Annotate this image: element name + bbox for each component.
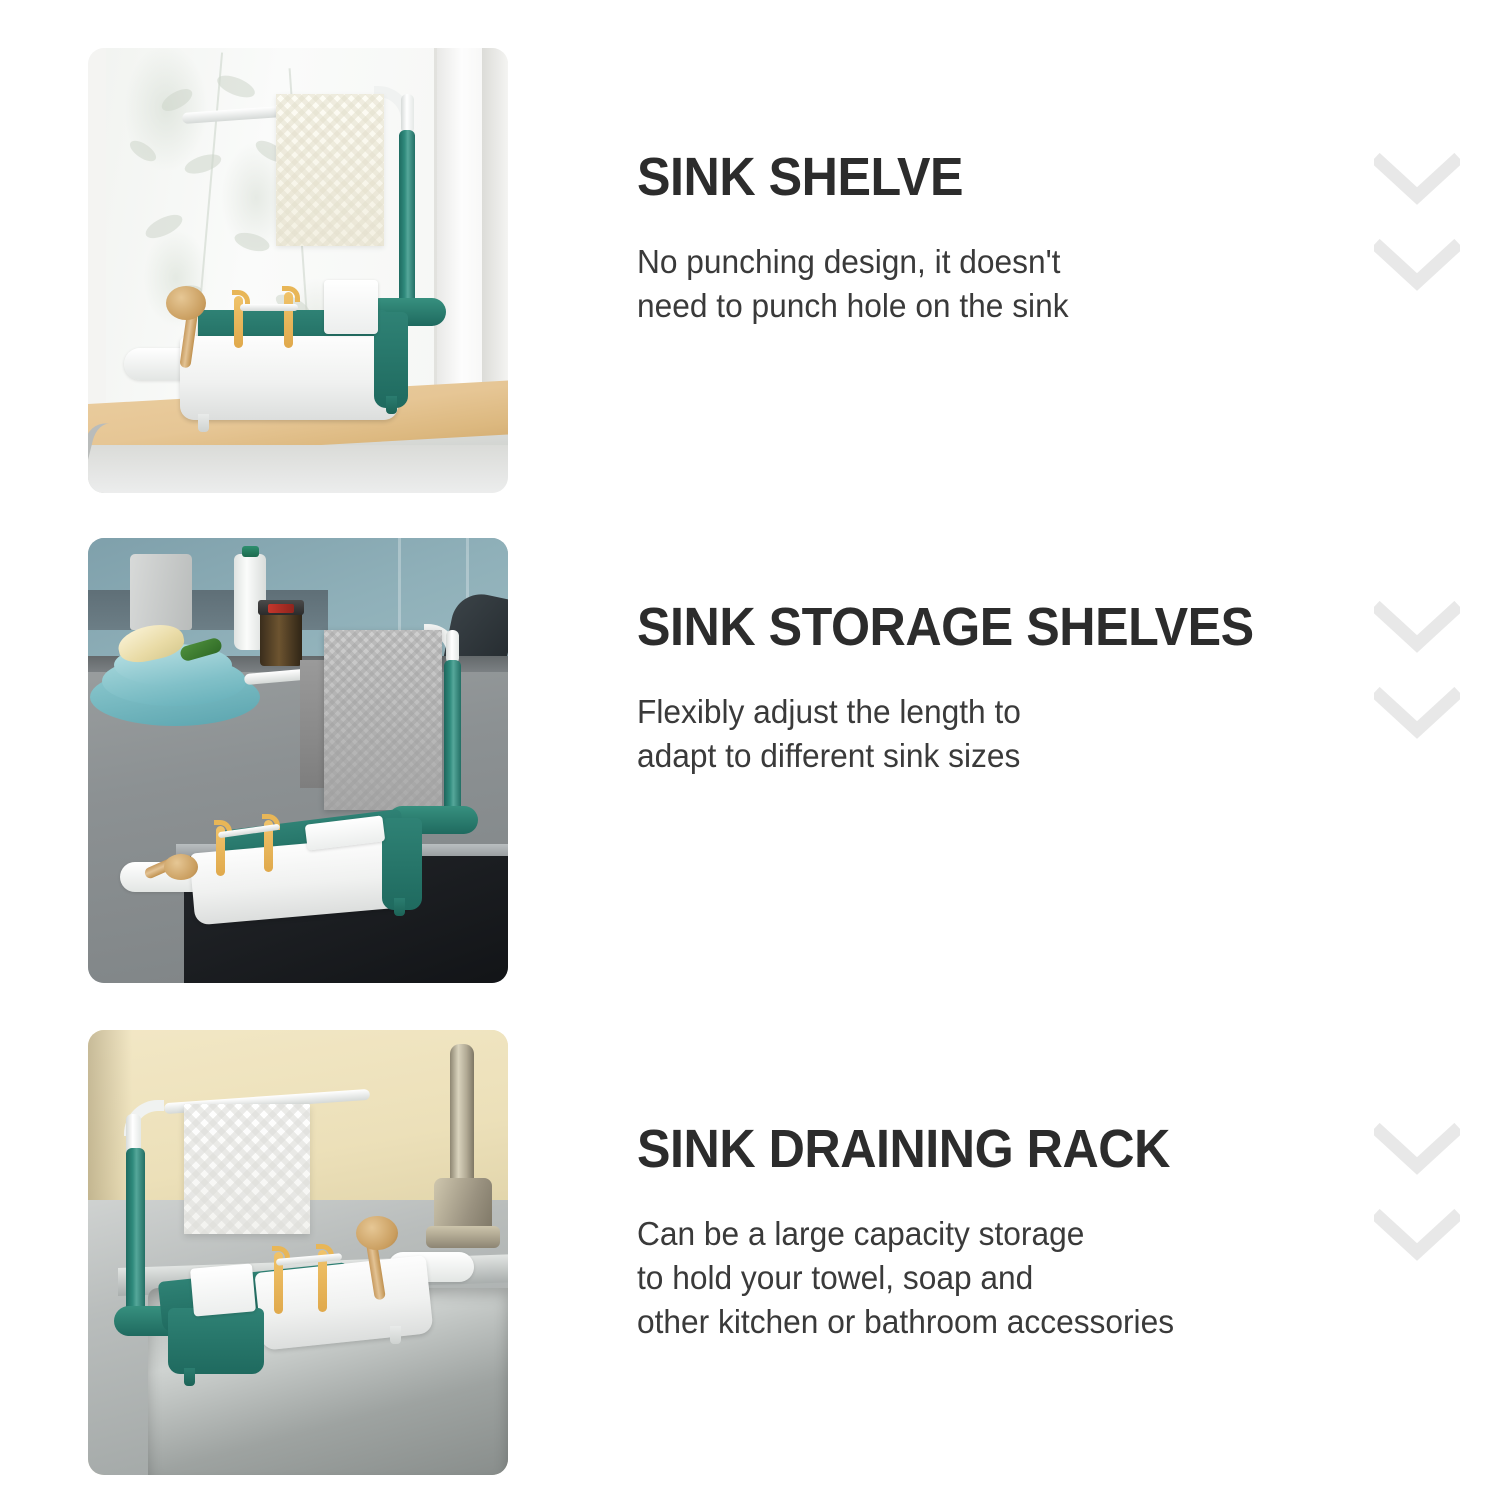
basket-teal-right	[382, 818, 422, 910]
rail-upper-white	[446, 630, 459, 664]
section-3-body: Can be a large capacity storage to hold …	[637, 1212, 1187, 1345]
brush-head	[356, 1216, 398, 1250]
section-3-text: SINK DRAINING RACK Can be a large capaci…	[637, 1122, 1210, 1345]
rail-upper-white	[401, 94, 414, 134]
body-line: No punching design, it doesn't	[637, 240, 1069, 284]
chevron-down-icon	[1374, 1208, 1460, 1262]
chevron-down-icon	[1374, 686, 1460, 740]
section-2-heading: SINK STORAGE SHELVES	[637, 600, 1254, 654]
kitchen-appliance	[130, 554, 192, 630]
body-line: Flexibly adjust the length to	[637, 690, 1274, 734]
section-2-body: Flexibly adjust the length to adapt to d…	[637, 690, 1274, 778]
photo-sink-draining-rack-stainless	[88, 1030, 508, 1475]
section-1-text: SINK SHELVE No punching design, it doesn…	[637, 150, 1087, 328]
body-line: to hold your towel, soap and	[637, 1256, 1187, 1300]
basket-foot-teal	[184, 1368, 195, 1386]
jar-label	[268, 604, 294, 613]
rail-vertical-teal	[399, 130, 415, 308]
chevron-down-icon	[1374, 1122, 1460, 1176]
section-1-heading: SINK SHELVE	[637, 150, 1055, 204]
inner-wire-bar	[240, 304, 298, 311]
brush-head	[166, 286, 206, 320]
basket-foot	[198, 414, 209, 432]
basket-teal-body	[168, 1308, 264, 1374]
section-3-chevrons	[1374, 1122, 1460, 1262]
basket-teal-right	[374, 312, 408, 408]
sauce-jar	[260, 608, 302, 666]
faucet-column	[450, 1044, 474, 1194]
white-sponge	[324, 280, 378, 334]
rail-vertical-teal	[444, 660, 461, 812]
body-line: adapt to different sink sizes	[637, 734, 1274, 778]
basket-foot-teal	[394, 898, 405, 916]
rail-vertical-teal	[126, 1148, 145, 1314]
brush-head	[164, 854, 198, 880]
section-2-chevrons	[1374, 600, 1460, 740]
white-towel	[184, 1104, 310, 1234]
basket-white-body	[180, 336, 398, 420]
counter-surface	[88, 445, 508, 493]
chevron-down-icon	[1374, 600, 1460, 654]
cream-towel	[276, 94, 384, 246]
infographic-page: SINK SHELVE No punching design, it doesn…	[0, 0, 1500, 1500]
basket-foot	[390, 1326, 401, 1344]
photo-sink-storage-shelves-counter	[88, 538, 508, 983]
grey-towel	[324, 630, 442, 810]
body-line: need to punch hole on the sink	[637, 284, 1069, 328]
faucet-spout	[426, 1226, 500, 1248]
section-2-text: SINK STORAGE SHELVES Flexibly adjust the…	[637, 600, 1300, 778]
section-1-body: No punching design, it doesn't need to p…	[637, 240, 1069, 328]
basket-foot-teal	[386, 396, 397, 414]
white-soap-bar	[190, 1263, 256, 1316]
body-line: Can be a large capacity storage	[637, 1212, 1187, 1256]
chevron-down-icon	[1374, 152, 1460, 206]
section-1-chevrons	[1374, 152, 1460, 292]
chevron-down-icon	[1374, 238, 1460, 292]
section-3-heading: SINK DRAINING RACK	[637, 1122, 1170, 1176]
body-line: other kitchen or bathroom accessories	[637, 1300, 1187, 1344]
photo-sink-shelve-windowsill	[88, 48, 508, 493]
bottle-cap	[242, 546, 259, 557]
